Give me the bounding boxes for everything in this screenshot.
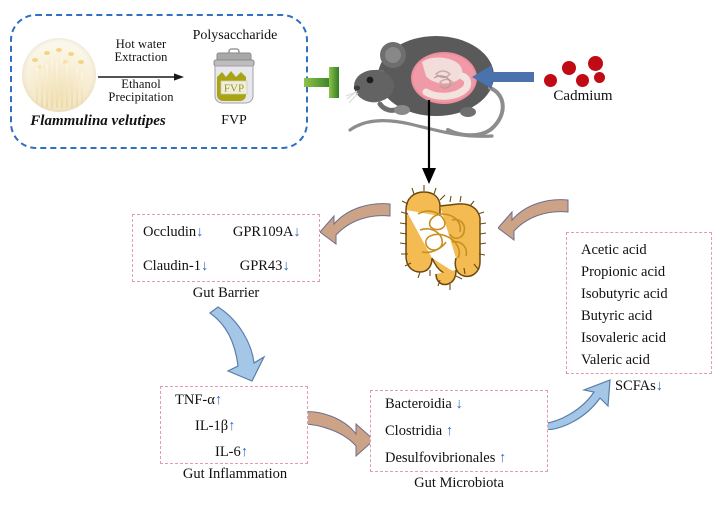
tnf-alpha-label: TNF-α <box>175 392 215 408</box>
gut-barrier-caption: Gut Barrier <box>132 285 320 302</box>
scfas-caption: SCFAs↓ <box>566 378 712 395</box>
desulfovibrionales-label: Desulfovibrionales <box>385 450 495 466</box>
inflammation-item: IL-1β↑ <box>161 413 307 439</box>
intestine-illustration <box>390 180 500 290</box>
cadmium-label: Cadmium <box>528 88 638 105</box>
bacteroidia-label: Bacteroidia <box>385 396 452 412</box>
inhibition-bar-icon <box>302 60 344 108</box>
scfas-to-intestine-arrow-icon <box>498 196 570 244</box>
scfa-item: Acetic acid <box>581 239 711 261</box>
gut-barrier-row-1: Occludin↓ GPR109A↓ <box>133 215 319 249</box>
fvp-label: FVP <box>196 113 272 129</box>
scfas-box: Acetic acid Propionic acid Isobutyric ac… <box>566 232 712 374</box>
inflammation-item: TNF-α↑ <box>161 387 307 413</box>
scfa-item: Butyric acid <box>581 305 711 327</box>
polysaccharide-title: Polysaccharide <box>176 28 294 44</box>
gut-barrier-to-inflammation-arrow-icon <box>198 305 268 383</box>
cadmium-exposure-arrow-icon <box>472 62 534 92</box>
bacteroidia-trend-arrow: ↓ <box>455 396 462 412</box>
clostridia-label: Clostridia <box>385 423 442 439</box>
gut-microbiota-caption: Gut Microbiota <box>370 475 548 492</box>
scfas-trend-arrow: ↓ <box>656 378 663 394</box>
svg-text:FVP: FVP <box>224 83 244 95</box>
gut-barrier-box: Occludin↓ GPR109A↓ Claudin-1↓ GPR43↓ <box>132 214 320 282</box>
inflammation-to-microbiota-arrow-icon <box>298 408 376 460</box>
claudin1-item: Claudin-1↓ <box>133 258 226 275</box>
hot-water-extraction-label: Hot water Extraction <box>96 38 186 64</box>
gpr43-label: GPR43 <box>240 258 283 275</box>
occludin-item: Occludin↓ <box>133 224 233 241</box>
ethanol-precipitation-label: Ethanol Precipitation <box>96 78 186 104</box>
microbiota-item: Bacteroidia ↓ <box>385 391 547 418</box>
gut-barrier-row-2: Claudin-1↓ GPR43↓ <box>133 249 319 283</box>
scfa-item: Isovaleric acid <box>581 327 711 349</box>
microbiota-item: Clostridia ↑ <box>385 418 547 445</box>
extraction-line-2: Extraction <box>96 51 186 64</box>
gpr109a-trend-arrow: ↓ <box>293 224 300 241</box>
gut-inflammation-caption: Gut Inflammation <box>150 466 320 483</box>
clostridia-trend-arrow: ↑ <box>446 423 453 439</box>
il-6-trend-arrow: ↑ <box>241 444 248 460</box>
precipitation-line-2: Precipitation <box>96 91 186 104</box>
scfa-item: Isobutyric acid <box>581 283 711 305</box>
il-1beta-label: IL-1β <box>195 418 228 434</box>
claudin1-label: Claudin-1 <box>143 258 201 275</box>
il-1beta-trend-arrow: ↑ <box>228 418 235 434</box>
flammulina-velutipes-photo <box>22 38 96 112</box>
intestine-to-gut-barrier-arrow-icon <box>320 200 392 248</box>
mouse-to-intestine-arrow-icon <box>418 100 440 184</box>
tnf-alpha-trend-arrow: ↑ <box>215 392 222 408</box>
species-name-label: Flammulina velutipes <box>18 113 178 130</box>
inflammation-item: IL-6↑ <box>161 439 307 465</box>
reaction-arrow-icon <box>98 68 184 76</box>
desulfovibrionales-trend-arrow: ↑ <box>499 450 506 466</box>
microbiota-item: Desulfovibrionales ↑ <box>385 445 547 472</box>
gpr43-trend-arrow: ↓ <box>282 258 289 275</box>
il-6-label: IL-6 <box>215 444 241 460</box>
claudin1-trend-arrow: ↓ <box>201 258 208 275</box>
gpr109a-item: GPR109A↓ <box>233 224 319 241</box>
fvp-jar-icon: FVP <box>206 48 262 108</box>
gpr109a-label: GPR109A <box>233 224 293 241</box>
scfa-item: Propionic acid <box>581 261 711 283</box>
gut-microbiota-box: Bacteroidia ↓ Clostridia ↑ Desulfovibrio… <box>370 390 548 472</box>
occludin-label: Occludin <box>143 224 196 241</box>
scfa-item: Valeric acid <box>581 349 711 371</box>
gpr43-item: GPR43↓ <box>226 258 319 275</box>
gut-inflammation-box: TNF-α↑ IL-1β↑ IL-6↑ <box>160 386 308 464</box>
occludin-trend-arrow: ↓ <box>196 224 203 241</box>
scfas-label: SCFAs <box>615 378 656 394</box>
